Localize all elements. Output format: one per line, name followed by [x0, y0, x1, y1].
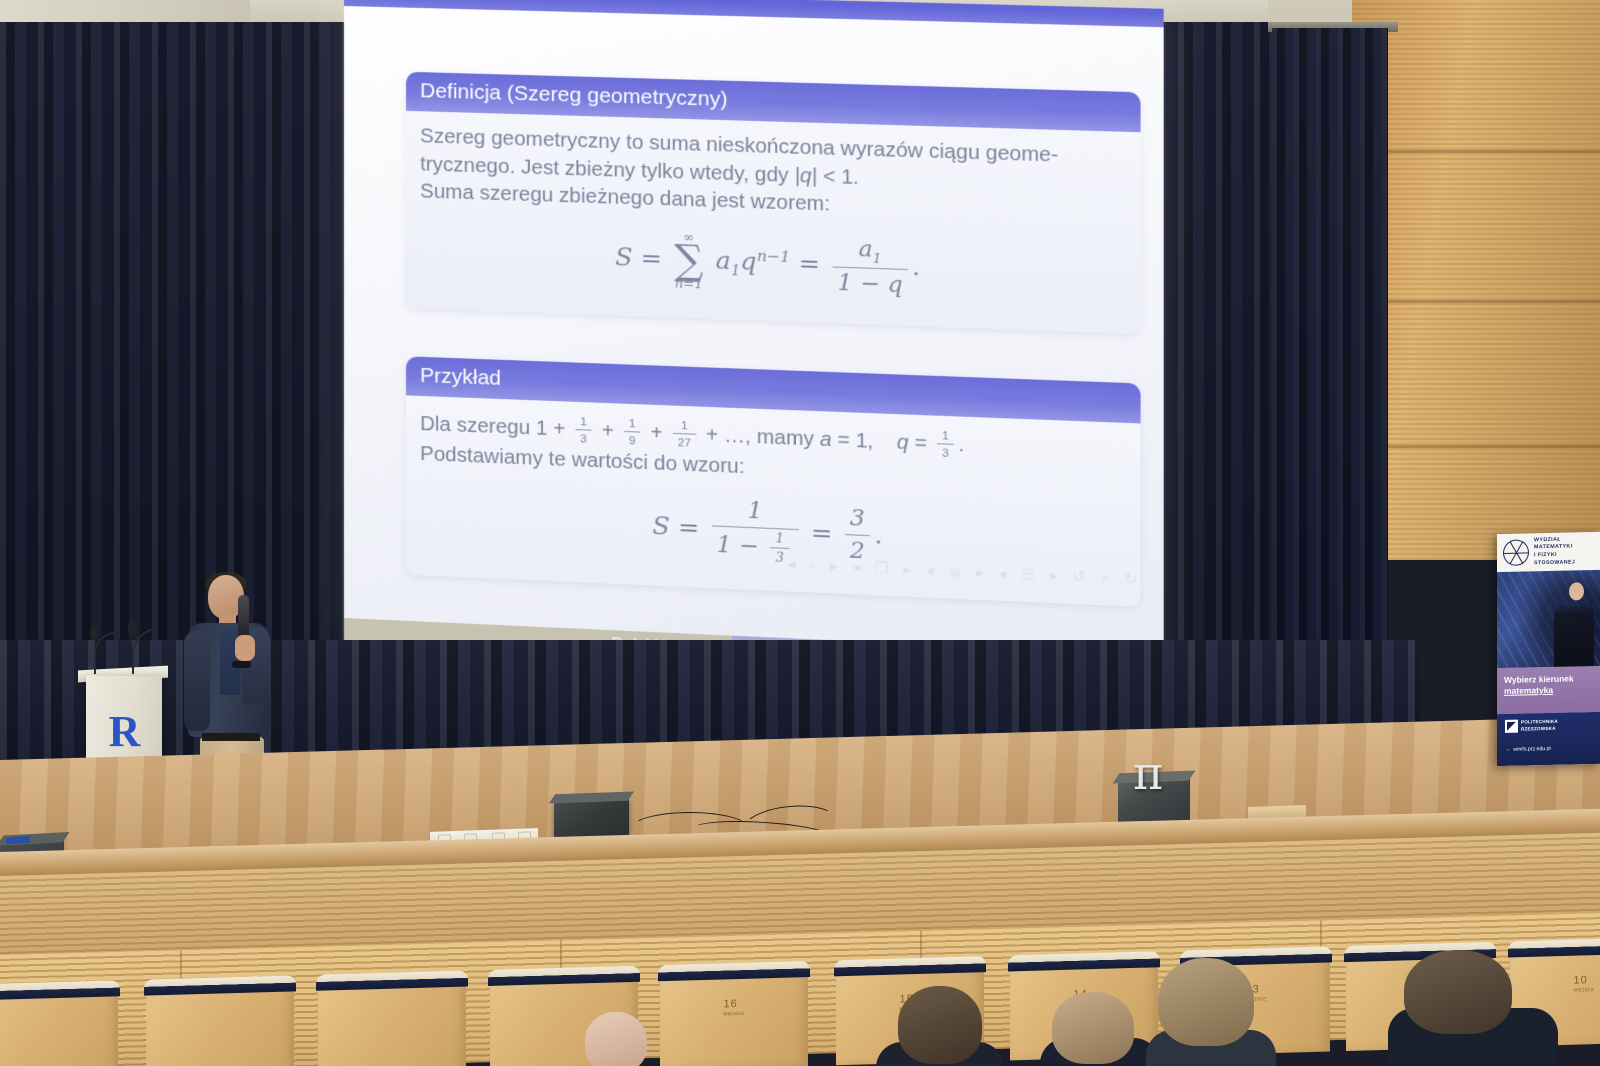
audience-person-3-head: [1052, 992, 1134, 1064]
audience-person-bald: [585, 1012, 647, 1066]
summation-symbol: ∞ ∑ n=1: [674, 231, 703, 293]
audience-person-5-head: [1404, 950, 1512, 1034]
banner-footer: POLITECHNIKA RZESZOWSKA → wmifs.prz.edu.…: [1497, 712, 1600, 766]
university-mark-icon: [1505, 720, 1518, 733]
faculty-logo-icon: [1503, 539, 1529, 566]
banner-photo: [1497, 570, 1600, 668]
sum-fraction: a1 1 − q: [832, 234, 908, 301]
banner-faculty-header: WYDZIAŁ MATEMATYKI I FIZYKI STOSOWANEJ: [1497, 532, 1600, 572]
example-fraction: 1 1 − 13: [712, 495, 799, 568]
seat-19: [146, 984, 294, 1066]
slide-content: Definicja (Szereg geometryczny) Szereg g…: [344, 18, 1164, 641]
banner-url: → wmifs.prz.edu.pl: [1505, 745, 1594, 753]
projection-screen: Szereg geometryczny Definicja (Szereg ge…: [344, 0, 1164, 686]
presenter-left-arm: [184, 631, 210, 731]
microphone-head-right: [128, 621, 137, 636]
banner-headline: Wybierz kierunek matematyka: [1497, 666, 1600, 714]
presenter-wristwatch: [232, 661, 251, 668]
microphone-head-left: [90, 625, 99, 640]
university-name: POLITECHNIKA RZESZOWSKA: [1521, 719, 1558, 733]
presenter-belt: [202, 733, 260, 741]
arrow-icon: →: [1505, 747, 1510, 753]
audience-person-4-head: [1158, 958, 1254, 1046]
pi-sculpture: π: [1133, 753, 1163, 793]
definition-body: Szereg geometryczny to suma nieskończona…: [406, 111, 1141, 334]
presenter-hand: [235, 635, 255, 661]
banner-headline-line2: matematyka: [1504, 684, 1594, 696]
definition-block: Definicja (Szereg geometryczny) Szereg g…: [406, 72, 1141, 334]
right-wood-slat-wall: [1352, 0, 1600, 560]
banner-figure: [1554, 590, 1594, 667]
seat-20: [0, 989, 118, 1066]
audience-person-2-head: [898, 986, 982, 1064]
seat-18: [318, 980, 466, 1066]
lectern-university-logo: R: [106, 706, 140, 762]
rollup-banner: WYDZIAŁ MATEMATYKI I FIZYKI STOSOWANEJ W…: [1497, 532, 1600, 766]
seat-16: 16MIEJSCE: [660, 970, 808, 1066]
university-logo-block: POLITECHNIKA RZESZOWSKA: [1505, 718, 1594, 733]
lecture-hall-photo: Szereg geometryczny Definicja (Szereg ge…: [0, 0, 1600, 1066]
banner-faculty-text: WYDZIAŁ MATEMATYKI I FIZYKI STOSOWANEJ: [1534, 536, 1600, 568]
beamer-slide: Szereg geometryczny Definicja (Szereg ge…: [344, 0, 1164, 686]
